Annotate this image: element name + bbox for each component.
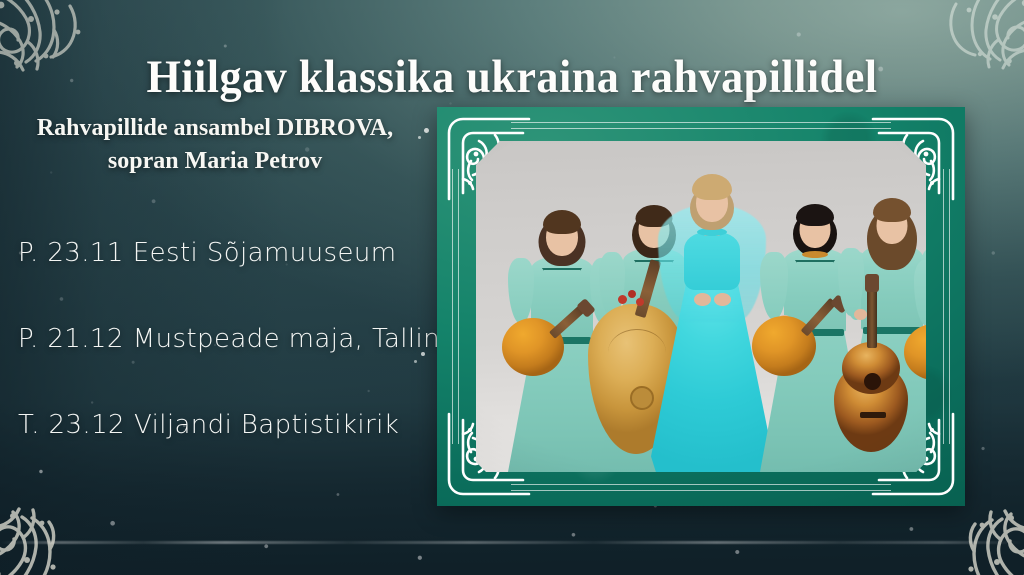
frame-rule	[458, 169, 459, 444]
background-light-streak	[0, 541, 1024, 544]
concert-poster: Hiilgav klassika ukraina rahvapillidel R…	[0, 0, 1024, 575]
instrument-mandolin	[502, 310, 588, 376]
ensemble-photo	[476, 141, 926, 472]
event-date: T. 23.12	[18, 410, 125, 440]
event-venue: Mustpeade maja, Tallinn	[133, 324, 457, 354]
frame-rule	[511, 128, 891, 129]
instrument-mandolin	[752, 306, 844, 376]
event-list: P. 23.11Eesti Sõjamuuseum P. 21.12Mustpe…	[18, 240, 470, 438]
subtitle-line-2: sopran Maria Petrov	[0, 145, 430, 178]
instrument-mandolin	[904, 314, 926, 380]
event-date: P. 21.12	[18, 324, 124, 354]
event-date: P. 23.11	[18, 238, 124, 268]
photo-stage	[476, 141, 926, 472]
subtitle-line-1: Rahvapillide ansambel DIBROVA,	[37, 115, 393, 141]
frame-rule	[511, 484, 891, 485]
event-item: T. 23.12Viljandi Baptistikirik	[18, 412, 470, 438]
ensemble-subtitle: Rahvapillide ansambel DIBROVA, sopran Ma…	[0, 112, 430, 178]
frame-rule	[452, 169, 453, 444]
frame-rule	[511, 122, 891, 123]
poster-title: Hiilgav klassika ukraina rahvapillidel	[31, 53, 994, 103]
frame-rule	[949, 169, 950, 444]
event-venue: Viljandi Baptistikirik	[134, 410, 399, 440]
frame-rule	[943, 169, 944, 444]
frame-rule	[511, 490, 891, 491]
event-venue: Eesti Sõjamuuseum	[133, 238, 397, 268]
event-item: P. 21.12Mustpeade maja, Tallinn	[18, 326, 470, 352]
corner-flourish-icon	[0, 453, 130, 575]
event-item: P. 23.11Eesti Sõjamuuseum	[18, 240, 470, 266]
instrument-guitar	[834, 276, 910, 452]
performer	[912, 186, 926, 472]
photo-frame	[437, 107, 965, 506]
